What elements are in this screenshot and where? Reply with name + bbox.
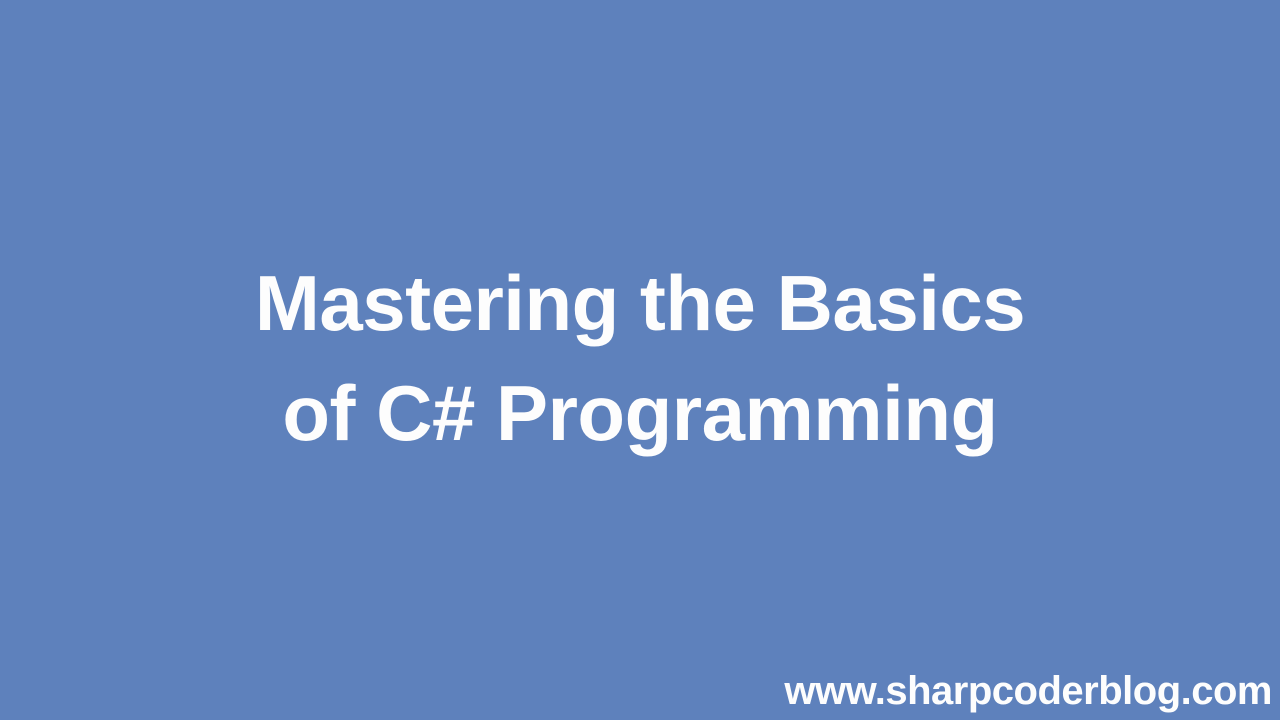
slide-canvas: Mastering the Basics of C# Programming w… xyxy=(0,0,1280,720)
watermark-url: www.sharpcoderblog.com xyxy=(784,668,1272,714)
page-title: Mastering the Basics of C# Programming xyxy=(0,248,1280,468)
title-line-2: of C# Programming xyxy=(0,358,1280,468)
title-line-1: Mastering the Basics xyxy=(0,248,1280,358)
